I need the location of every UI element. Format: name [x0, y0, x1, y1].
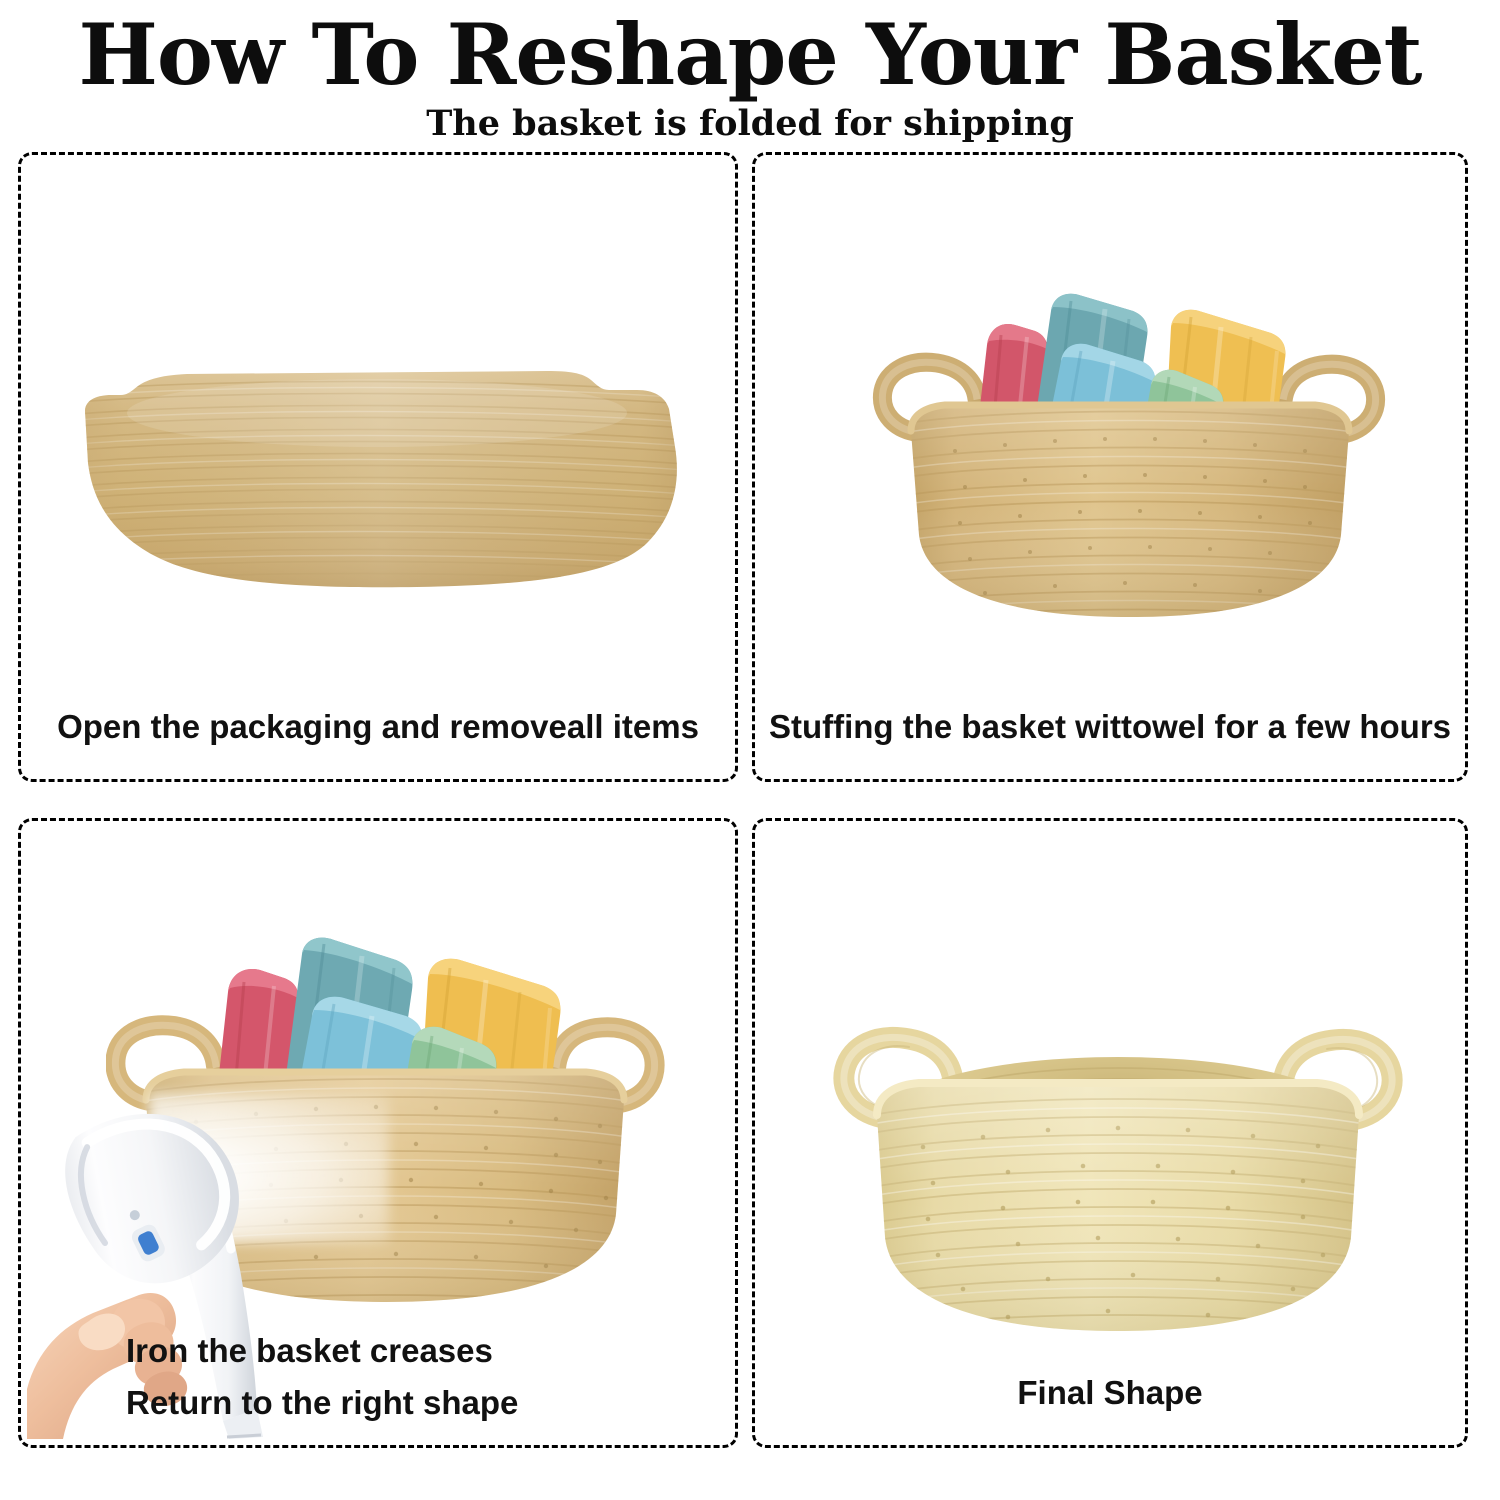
step-panel-4: Final Shape: [752, 818, 1468, 1448]
caption-line: Return to the right shape: [126, 1377, 686, 1429]
caption-line: Final Shape: [755, 1367, 1465, 1419]
finished-rope-basket-graphic: [833, 989, 1403, 1349]
infographic-page: How To Reshape Your Basket The basket is…: [0, 0, 1500, 1500]
illustration-basket-steamer: Iron the basket creases Return to the ri…: [21, 821, 735, 1445]
page-subtitle: The basket is folded for shipping: [0, 104, 1500, 144]
rope-basket-with-towels-graphic: [865, 285, 1395, 655]
step-panel-3: Iron the basket creases Return to the ri…: [18, 818, 738, 1448]
illustration-basket-with-towels: Stuffing the basket wittowel for a few h…: [755, 155, 1465, 779]
basket-4-svg: [833, 989, 1403, 1349]
page-title: How To Reshape Your Basket: [0, 8, 1500, 102]
basket-2-svg: [865, 285, 1395, 655]
caption-line: Iron the basket creases: [126, 1325, 686, 1377]
step-panel-1: Open the packaging and removeall items: [18, 152, 738, 782]
step-caption-2: Stuffing the basket wittowel for a few h…: [755, 701, 1465, 753]
caption-line: Stuffing the basket wittowel for a few h…: [755, 701, 1465, 753]
illustration-empty-basket: Final Shape: [755, 821, 1465, 1445]
folded-basket-svg: [77, 351, 687, 591]
caption-line: Open the packaging and removeall items: [21, 701, 735, 753]
step-panel-2: Stuffing the basket wittowel for a few h…: [752, 152, 1468, 782]
basket-coil-texture: [833, 1069, 1403, 1349]
step-caption-3: Iron the basket creases Return to the ri…: [126, 1325, 686, 1429]
step-caption-4: Final Shape: [755, 1367, 1465, 1419]
step-caption-1: Open the packaging and removeall items: [21, 701, 735, 753]
basket-coil-texture: [865, 385, 1395, 645]
folded-basket-coil-lines: [77, 351, 687, 591]
illustration-folded-basket: Open the packaging and removeall items: [21, 155, 735, 779]
folded-basket-graphic: [77, 351, 687, 591]
